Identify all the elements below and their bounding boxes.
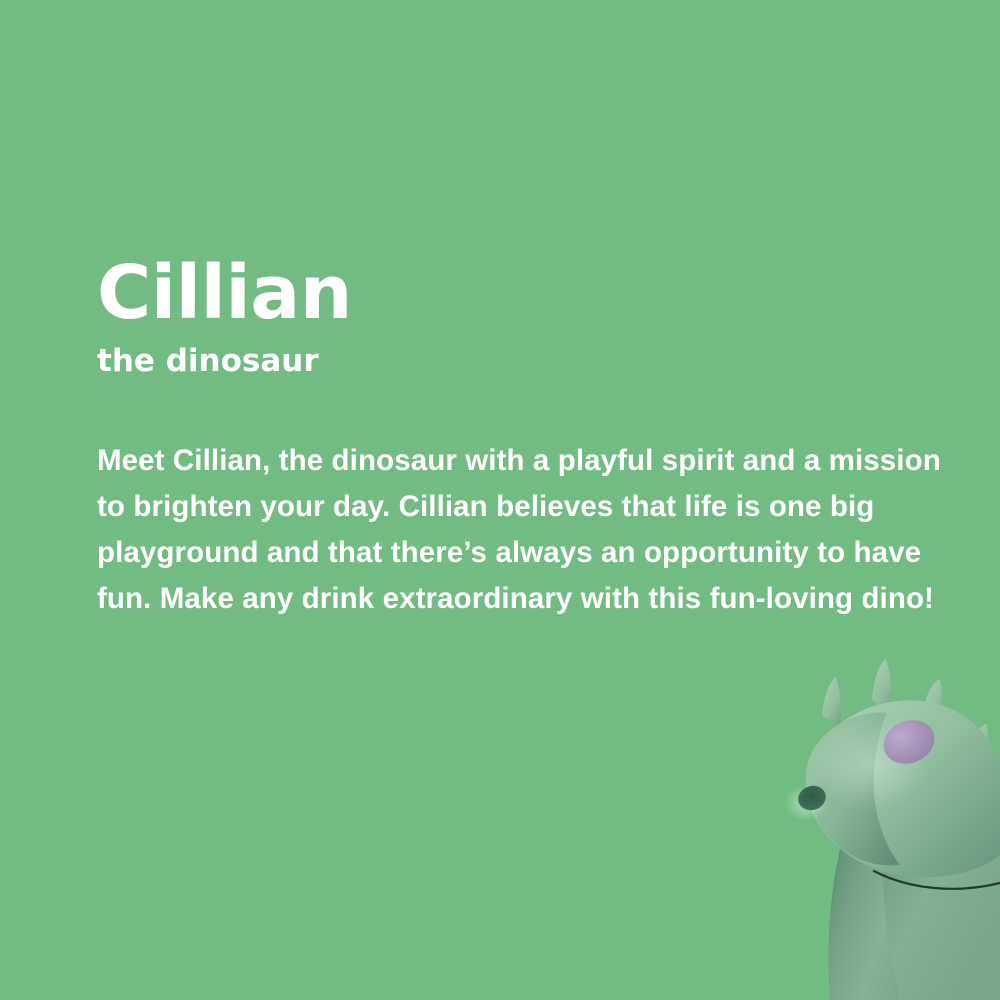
character-text-block: Cillian the dinosaur Meet Cillian, the d… bbox=[97, 258, 967, 622]
character-card: Cillian the dinosaur Meet Cillian, the d… bbox=[0, 0, 1000, 1000]
character-role: the dinosaur bbox=[97, 344, 967, 378]
character-name: Cillian bbox=[97, 258, 967, 330]
dinosaur-icon bbox=[750, 655, 1000, 1000]
character-description: Meet Cillian, the dinosaur with a playfu… bbox=[97, 438, 977, 622]
